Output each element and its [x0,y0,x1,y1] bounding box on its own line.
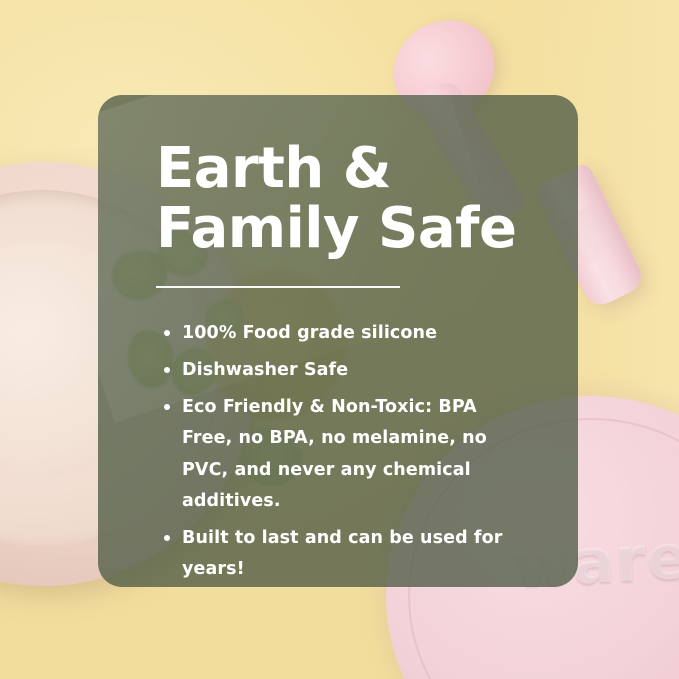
product-marketing-image: ware Earth & Family Safe 100% Food grade… [0,0,679,679]
info-card: Earth & Family Safe 100% Food grade sili… [98,95,578,587]
info-card-content: Earth & Family Safe 100% Food grade sili… [98,95,578,587]
headline-divider [156,286,400,288]
feature-list: 100% Food grade silicone Dishwasher Safe… [156,318,526,585]
list-item: Eco Friendly & Non-Toxic: BPA Free, no B… [156,392,526,517]
headline: Earth & Family Safe [156,139,526,260]
list-item: Dishwasher Safe [156,355,526,386]
list-item: Built to last and can be used for years! [156,523,526,585]
list-item: 100% Food grade silicone [156,318,526,349]
